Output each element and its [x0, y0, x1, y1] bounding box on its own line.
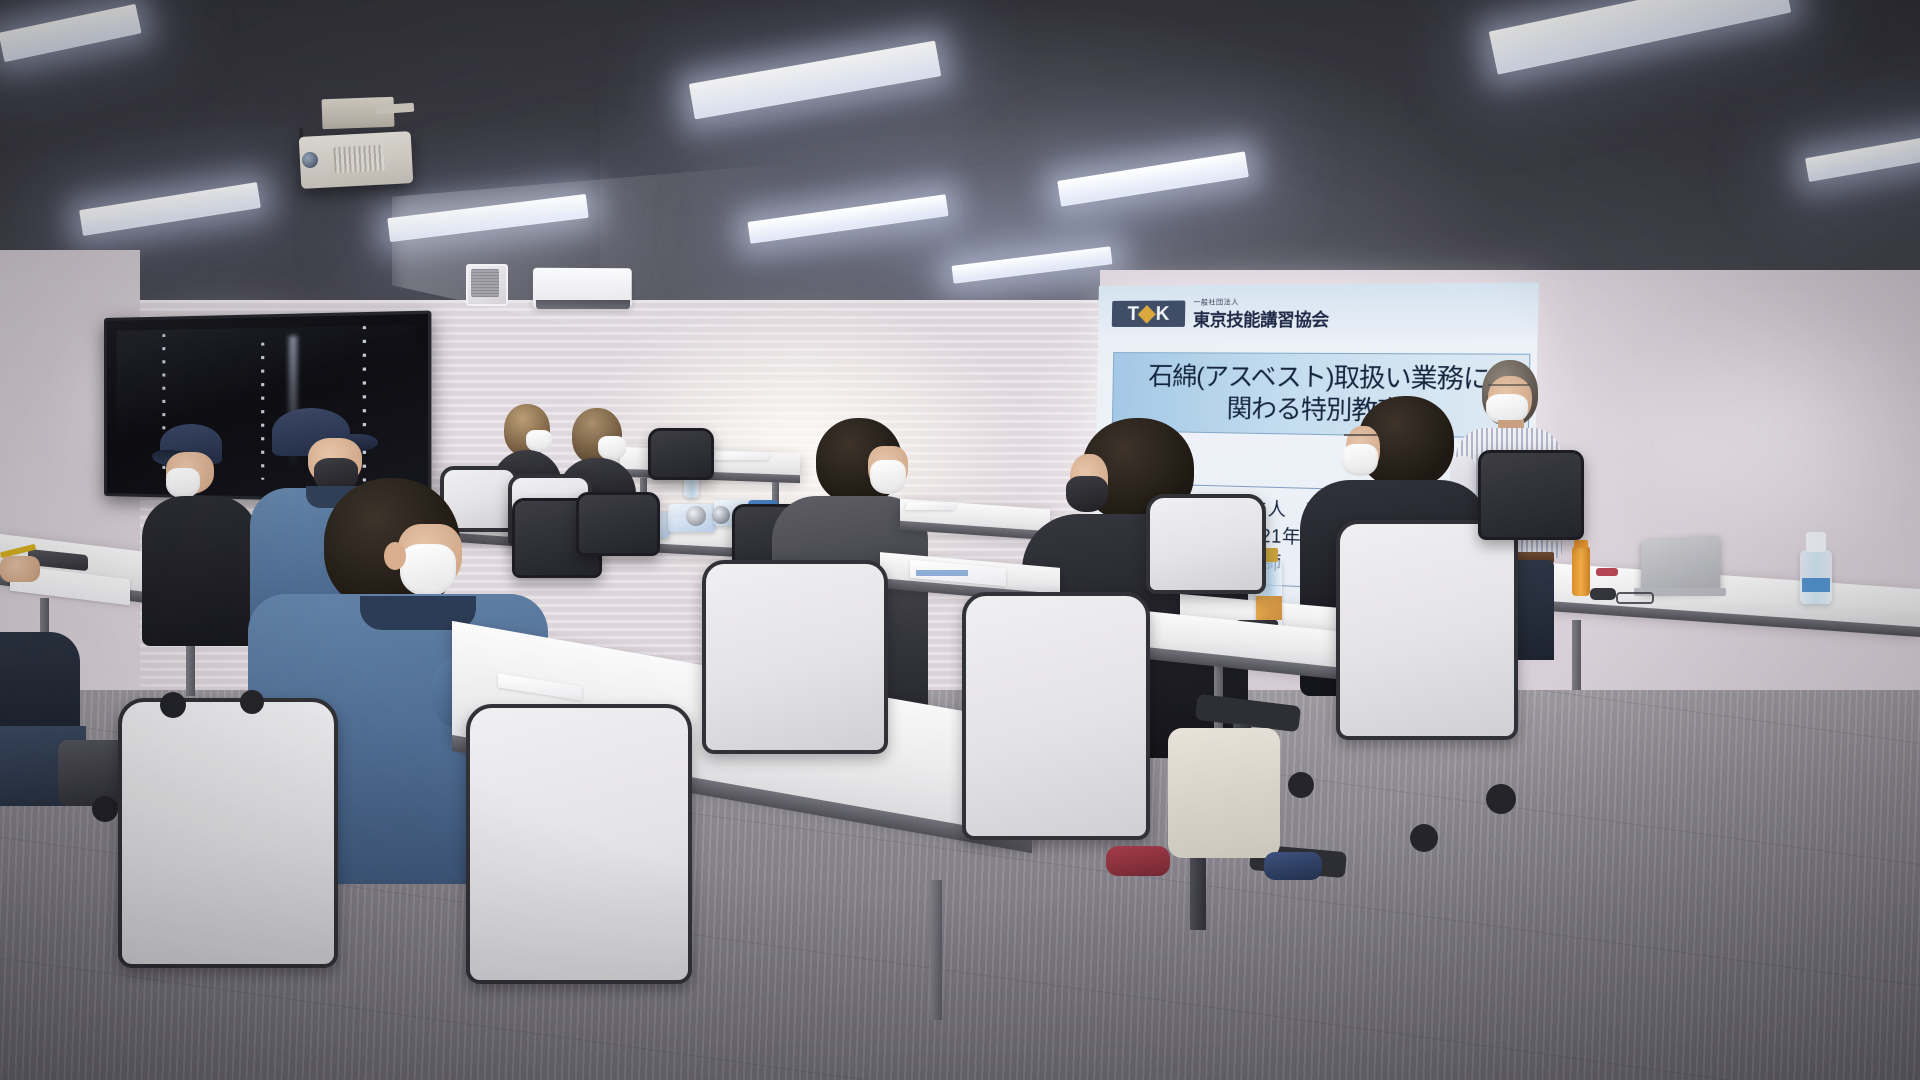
mask-pouch: [1590, 588, 1616, 600]
chair-foreground-2[interactable]: [466, 704, 692, 984]
chair-caster-right-2: [1410, 824, 1438, 852]
chair-right-rear[interactable]: [1146, 494, 1266, 594]
chair-back-center[interactable]: [648, 428, 714, 480]
attendee-light-hair-mask: [598, 436, 626, 460]
chair-foreground-5[interactable]: [1336, 520, 1518, 740]
attendee-cap-left-mask: [166, 468, 200, 498]
slide-header: T K 一般社団法人 東京技能講習協会: [1098, 283, 1539, 339]
red-item: [1596, 568, 1618, 576]
chair-foreground-1[interactable]: [118, 698, 338, 968]
logo-letter-k: K: [1156, 304, 1170, 323]
presenter-laptop[interactable]: [1641, 535, 1721, 593]
chair-mid-dark-3[interactable]: [576, 492, 660, 556]
classroom-scene: T K 一般社団法人 東京技能講習協会 石綿(アスベスト)取扱い業務に 関わる特…: [0, 0, 1920, 1080]
handout-back: [712, 452, 772, 460]
attendee-denim-front-ear: [384, 542, 406, 570]
chair-caster-right-3: [1288, 772, 1314, 798]
shoe-right: [1106, 846, 1170, 876]
attendee-legs-right: [1168, 728, 1280, 858]
chair-foreground-3[interactable]: [702, 560, 888, 754]
attendee-blonde-mask: [526, 430, 552, 452]
chair-caster-left: [92, 796, 118, 822]
water-bottle-label-right: [1256, 596, 1282, 620]
attendee-center-right-mask: [870, 460, 906, 494]
hand-sanitizer-bottle[interactable]: [1800, 550, 1832, 604]
shoe-right-2: [1264, 852, 1322, 880]
instructor-glasses-icon: [1488, 384, 1530, 395]
tk-logo-icon: T K: [1112, 301, 1186, 327]
respirator-filter-icon: [686, 506, 706, 526]
desk-foreground-left-leg-2: [930, 880, 942, 1020]
attendee-cap-left: [142, 424, 262, 644]
chair-right-dark[interactable]: [1478, 450, 1584, 540]
attendee-far-right-mask: [1342, 444, 1378, 476]
logo-organization-name: 東京技能講習協会: [1193, 305, 1329, 331]
diamond-icon: [1138, 305, 1156, 324]
handout-center-right: [904, 502, 957, 510]
attendee-left-edge-hand: [0, 556, 40, 582]
sanitizer-label: [1802, 578, 1830, 592]
chair-caster-mid: [160, 692, 186, 718]
attendee-right-black-mask: [1066, 476, 1108, 512]
chair-caster-right-1: [1486, 784, 1516, 814]
eyeglasses-icon: [1616, 592, 1654, 604]
respirator-filter-icon-2: [712, 506, 730, 524]
attendee-denim-front-mask: [400, 544, 456, 596]
sanitizer-pump[interactable]: [1806, 532, 1826, 552]
chair-caster-mid-2: [240, 690, 264, 714]
attendee-far-right-glasses-icon: [1344, 434, 1378, 444]
handout-right-front-accent: [916, 570, 968, 576]
projector-vent-grille: [333, 145, 384, 174]
attendee-cap-left-torso: [142, 496, 258, 646]
chair-foreground-4[interactable]: [962, 592, 1150, 840]
